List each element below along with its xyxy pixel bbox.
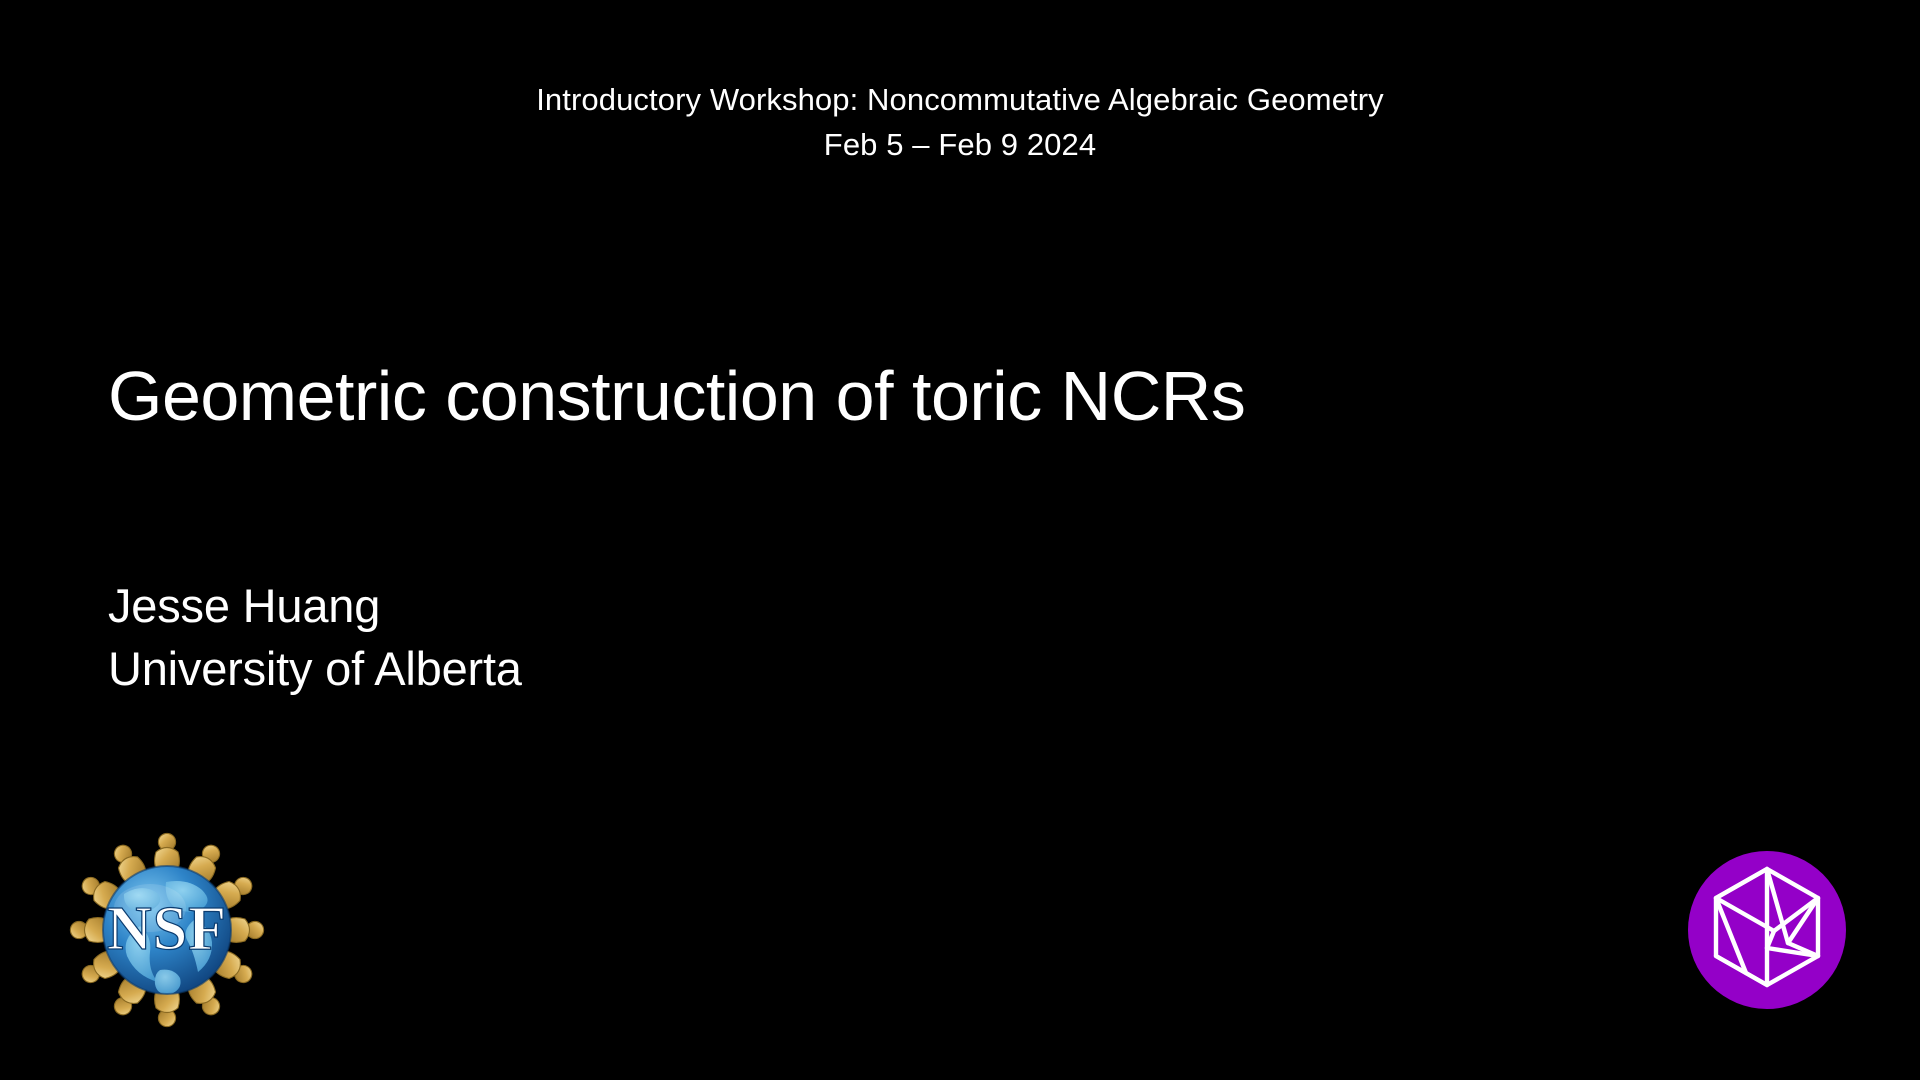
nsf-wordmark: NSF [107,895,227,963]
workshop-header: Introductory Workshop: Noncommutative Al… [0,78,1920,168]
workshop-dates: Feb 5 – Feb 9 2024 [0,123,1920,168]
title-slide: Introductory Workshop: Noncommutative Al… [0,0,1920,1080]
slmath-logo [1688,851,1846,1009]
speaker-block: Jesse Huang University of Alberta [108,575,522,701]
page-title: Geometric construction of toric NCRs [108,360,1245,434]
workshop-title: Introductory Workshop: Noncommutative Al… [0,78,1920,123]
nsf-logo: NSF [62,822,272,1034]
speaker-name: Jesse Huang [108,575,522,638]
speaker-affiliation: University of Alberta [108,638,522,701]
